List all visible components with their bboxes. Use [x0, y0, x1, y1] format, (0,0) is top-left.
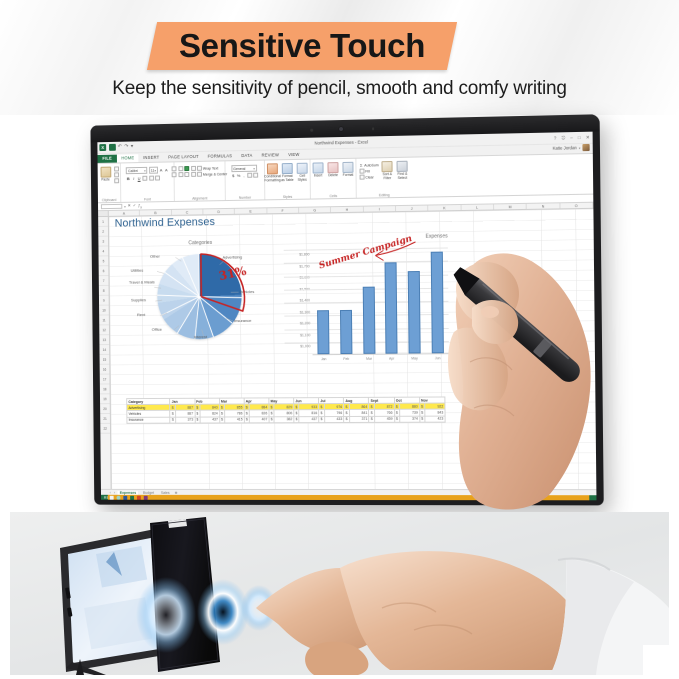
align-center-icon[interactable] [178, 172, 183, 177]
group-label-editing: Editing [357, 192, 412, 197]
tablet-device: ↶ ↷ ▾ Northwind Expenses - Excel ? ⎋ – □… [90, 114, 603, 505]
row-header-20[interactable]: 20 [100, 404, 110, 414]
paste-label: Paste [101, 178, 109, 182]
pie-chart-title: Categories [125, 239, 277, 247]
merge-center-icon [197, 172, 202, 177]
first-sheet-icon[interactable]: ‹ [110, 490, 111, 494]
edge-icon[interactable] [117, 495, 121, 499]
x-label-apr: Apr [389, 357, 394, 361]
decrease-indent-icon[interactable] [191, 172, 196, 177]
y-tick-1000: $1,000 [285, 341, 311, 353]
touch-ripple-core [197, 579, 249, 645]
excel-window: ↶ ↷ ▾ Northwind Expenses - Excel ? ⎋ – □… [97, 132, 596, 501]
bar-may [408, 271, 421, 354]
row-header-10[interactable]: 10 [99, 306, 109, 316]
column-header-f[interactable]: F [267, 208, 299, 214]
ribbon-group-number: General ▾ $ % , [225, 161, 265, 201]
row-header-9[interactable]: 9 [99, 296, 109, 306]
tab-review[interactable]: REVIEW [257, 151, 284, 160]
bar-chart-title: Expenses [426, 233, 448, 239]
row-header-5[interactable]: 5 [99, 256, 109, 266]
row-header-17[interactable]: 17 [100, 375, 110, 385]
format-cells-button[interactable]: Format [341, 162, 354, 178]
fill-color-icon[interactable] [149, 176, 154, 181]
wrap-text-button[interactable]: Wrap Text [197, 165, 218, 170]
decrease-decimal-icon[interactable] [253, 173, 258, 178]
bar-mar [362, 287, 375, 354]
name-box[interactable] [101, 204, 122, 210]
cell-value[interactable]: 433 [324, 416, 344, 422]
format-as-table-icon [282, 163, 293, 174]
help-icon[interactable]: ? [554, 135, 557, 141]
format-painter-icon[interactable] [114, 179, 119, 184]
new-sheet-icon[interactable]: ⊕ [174, 490, 177, 494]
enter-icon[interactable]: ✓ [133, 203, 136, 210]
x-label-jan: Jan [321, 357, 326, 361]
windows-start-icon[interactable] [110, 495, 114, 499]
find-select-icon [397, 161, 408, 172]
clear-button[interactable]: Clear [359, 175, 373, 180]
cell-value[interactable]: 407 [249, 416, 269, 422]
x-label-feb: Feb [343, 357, 349, 361]
insert-icon [313, 162, 324, 173]
delete-icon [327, 162, 338, 173]
hero-subtitle: Keep the sensitivity of pencil, smooth a… [0, 78, 679, 100]
font-name-select[interactable]: Calibri ▾ [126, 167, 147, 174]
paste-icon [100, 167, 111, 178]
sheet-tab-expenses[interactable]: Expenses [118, 490, 138, 494]
format-icon [342, 162, 353, 173]
x-label-jun: Jun [435, 356, 441, 360]
clear-icon [359, 175, 364, 180]
increase-font-size-icon[interactable]: A [159, 168, 163, 173]
row-header-2[interactable]: 2 [98, 227, 108, 237]
panel-corner-cutout [643, 645, 669, 675]
align-left-icon[interactable] [172, 172, 177, 177]
bar-chart[interactable]: Expenses $1,800 $1,700 $1,600 $1,500 $1,… [284, 233, 454, 385]
format-as-table-button[interactable]: Format as Table [281, 163, 294, 182]
number-format-select[interactable]: General ▾ [231, 165, 257, 172]
y-tick-1800: $1,800 [284, 249, 310, 261]
user-account[interactable]: Katie Jordan ▾ [553, 144, 590, 152]
function-icon[interactable]: ƒx [138, 203, 142, 210]
tab-file[interactable]: FILE [98, 154, 117, 162]
bar-chart-x-axis: Jan Feb Mar Apr May Jun [313, 356, 449, 361]
bold-button[interactable]: B [126, 176, 130, 181]
powerpoint-icon[interactable] [137, 495, 141, 499]
column-header-e[interactable]: E [235, 208, 267, 214]
italic-button[interactable]: I [132, 176, 136, 181]
group-label-styles: Styles [265, 194, 310, 199]
align-top-icon[interactable] [172, 166, 177, 171]
cell-value[interactable]: 415 [225, 416, 245, 422]
row-header-18[interactable]: 18 [100, 384, 110, 394]
column-header-c[interactable]: C [172, 209, 204, 214]
cell-value[interactable]: 459 [374, 416, 394, 422]
autosum-icon: Σ [359, 163, 363, 168]
row-header-11[interactable]: 11 [99, 315, 109, 325]
bar-annotation-arrow [353, 238, 424, 275]
maximize-icon[interactable]: □ [578, 135, 581, 141]
comma-format-icon[interactable]: , [242, 173, 246, 178]
underline-button[interactable]: U [137, 176, 141, 181]
row-header-4[interactable]: 4 [98, 246, 108, 256]
window-controls[interactable]: ? ⎋ – □ ✕ [554, 135, 590, 142]
ribbon-group-alignment: Wrap Text Merge & Center [174, 161, 225, 201]
pie-label-rent: Rent [137, 312, 145, 317]
column-header-k[interactable]: K [428, 205, 461, 211]
sort-filter-icon [382, 161, 393, 172]
group-label-number: Number [226, 195, 265, 200]
ribbon-group-cells: Insert Delete Format Cells [311, 159, 357, 199]
font-color-icon[interactable] [155, 176, 160, 181]
chevron-down-icon[interactable]: ▾ [579, 146, 581, 150]
row-header-13[interactable]: 13 [99, 335, 109, 345]
group-label-cells: Cells [311, 193, 356, 198]
minimize-icon[interactable]: – [570, 135, 573, 141]
column-header-a[interactable]: A [109, 210, 140, 215]
row-header-12[interactable]: 12 [99, 325, 109, 335]
borders-icon[interactable] [143, 176, 148, 181]
align-right-icon[interactable] [184, 172, 189, 177]
cell-value[interactable]: 437 [200, 417, 220, 423]
ribbon-group-styles: Conditional Formatting Format as Table C… [265, 160, 311, 200]
spreadsheet-grid[interactable]: A B C D E F G H I J K L M N O [98, 203, 596, 489]
table-row[interactable]: Insurance $ 373 $ 437 $ 415 $ 407 [127, 416, 445, 423]
cut-icon[interactable] [114, 166, 119, 171]
row-header-7[interactable]: 7 [99, 276, 109, 286]
banner-title: Sensitive Touch [152, 22, 452, 70]
percent-format-icon[interactable]: % [237, 173, 241, 178]
tab-view[interactable]: VIEW [284, 151, 305, 160]
pie-label-supplies: Supplies [131, 297, 146, 302]
group-label-clipboard: Clipboard [98, 197, 120, 201]
column-header-g[interactable]: G [299, 207, 331, 213]
y-tick-1500: $1,500 [284, 284, 310, 296]
cell-value[interactable]: 437 [299, 416, 319, 422]
sheet-tab-budget[interactable]: Budget [141, 490, 156, 494]
pie-chart[interactable]: Categories [125, 239, 279, 384]
group-label-alignment: Alignment [175, 196, 225, 201]
sheet-tab-sales[interactable]: Sales [159, 490, 172, 494]
column-header-j[interactable]: J [396, 206, 429, 212]
chevron-down-icon: ▾ [253, 166, 255, 170]
fill-icon [359, 169, 364, 174]
touch-demo-illustration [10, 512, 669, 675]
decrease-font-size-icon[interactable]: A [164, 167, 168, 172]
expenses-table[interactable]: Category Jan Feb Mar Apr May Jun Jul Aug [126, 396, 445, 423]
cell-styles-button[interactable]: Cell Styles [296, 163, 309, 182]
cell-category[interactable]: Insurance [127, 417, 170, 423]
user-name: Katie Jordan [553, 146, 577, 152]
row-header-15[interactable]: 15 [100, 355, 110, 365]
column-header-i[interactable]: I [364, 206, 396, 212]
align-bottom-icon[interactable] [184, 166, 189, 171]
column-header-d[interactable]: D [203, 209, 235, 214]
bar-apr [385, 263, 398, 354]
chevron-down-icon: ▾ [154, 168, 156, 172]
pie-label-utilities: Utilities [131, 268, 144, 273]
delete-cells-button[interactable]: Delete [326, 162, 339, 178]
tab-data[interactable]: DATA [237, 152, 257, 161]
cell-value[interactable]: 371 [349, 416, 369, 422]
camera-icon [339, 127, 343, 131]
pie-label-travel-meals: Travel & Meals [129, 280, 152, 285]
row-header-6[interactable]: 6 [99, 266, 109, 276]
y-tick-1400: $1,400 [284, 295, 310, 307]
sensor-left-icon [311, 129, 314, 132]
bar-chart-y-axis: $1,800 $1,700 $1,600 $1,500 $1,400 $1,30… [284, 249, 311, 352]
ribbon-options-icon[interactable]: ⎋ [561, 135, 565, 141]
chevron-down-icon[interactable]: ▾ [124, 204, 126, 208]
y-tick-1300: $1,300 [284, 307, 310, 319]
row-header-19[interactable]: 19 [100, 394, 110, 404]
x-label-mar: Mar [366, 357, 372, 361]
sensor-right-icon [372, 127, 375, 130]
find-select-button[interactable]: Find & Select [396, 161, 409, 180]
bar-feb [340, 310, 352, 354]
cell-styles-icon [297, 163, 308, 174]
paste-button[interactable]: Paste [99, 167, 112, 183]
row-header-14[interactable]: 14 [99, 345, 109, 355]
conditional-formatting-icon [267, 163, 278, 174]
insert-cells-button[interactable]: Insert [312, 162, 325, 178]
column-header-l[interactable]: L [461, 204, 494, 210]
ribbon-group-font: Calibri ▾ 11 ▾ A A [121, 162, 175, 202]
row-header-21[interactable]: 21 [100, 414, 110, 424]
os-taskbar[interactable] [108, 495, 589, 500]
bar-jun [430, 252, 443, 353]
cell-value[interactable]: 382 [274, 416, 294, 422]
tablet-screen: ↶ ↷ ▾ Northwind Expenses - Excel ? ⎋ – □… [97, 132, 596, 501]
row-header-22[interactable]: 22 [100, 424, 110, 434]
prev-sheet-icon[interactable]: › [114, 490, 115, 494]
hero-header: Sensitive Touch Keep the sensitivity of … [0, 0, 679, 115]
cell-value[interactable]: 374 [400, 416, 420, 422]
y-tick-1100: $1,100 [284, 330, 310, 342]
y-tick-1600: $1,600 [284, 272, 310, 284]
column-header-h[interactable]: H [331, 207, 363, 213]
column-header-m[interactable]: M [494, 204, 527, 210]
group-label-font: Font [121, 197, 174, 202]
currency-format-icon[interactable]: $ [231, 173, 235, 178]
sheet-heading: Northwind Expenses [115, 216, 215, 229]
select-all-corner[interactable] [98, 211, 109, 216]
font-size-select[interactable]: 11 ▾ [149, 167, 158, 174]
merge-center-button[interactable]: Merge & Center [197, 171, 227, 177]
ribbon-group-clipboard: Paste Clipboard [98, 163, 122, 202]
autosum-button[interactable]: Σ AutoSum [359, 162, 378, 167]
cancel-icon[interactable]: ✕ [128, 203, 131, 210]
fill-button[interactable]: Fill [359, 169, 370, 174]
cell-value[interactable]: 373 [175, 417, 194, 423]
conditional-formatting-button[interactable]: Conditional Formatting [266, 163, 279, 182]
column-header-o[interactable]: O [560, 203, 593, 209]
ribbon-group-editing: Σ AutoSum Fill Clear [356, 158, 412, 198]
column-header-b[interactable]: B [140, 210, 172, 215]
copy-icon[interactable] [114, 173, 119, 178]
bar-jan [317, 310, 329, 354]
product-marketing-page: Sensitive Touch Keep the sensitivity of … [0, 0, 679, 679]
tab-home[interactable]: HOME [117, 154, 139, 163]
row-header-3[interactable]: 3 [98, 237, 108, 247]
word-icon[interactable] [123, 495, 127, 499]
increase-decimal-icon[interactable] [247, 173, 252, 178]
onenote-icon[interactable] [144, 495, 148, 499]
cell-value[interactable]: 423 [425, 416, 445, 422]
row-header-16[interactable]: 16 [100, 365, 110, 375]
chevron-down-icon: ▾ [144, 168, 146, 172]
excel-icon[interactable] [130, 495, 134, 499]
x-label-may: May [411, 356, 417, 360]
column-header-n[interactable]: N [527, 203, 560, 209]
tab-insert[interactable]: INSERT [139, 153, 164, 162]
avatar[interactable] [582, 144, 589, 151]
row-header-8[interactable]: 8 [99, 286, 109, 296]
wrap-text-icon [197, 166, 202, 171]
cell-area[interactable]: Northwind Expenses Categories [109, 209, 597, 489]
orientation-icon[interactable] [191, 166, 196, 171]
tab-formulas[interactable]: FORMULAS [203, 152, 237, 161]
align-middle-icon[interactable] [178, 166, 183, 171]
sort-filter-button[interactable]: Sort & Filter [381, 161, 394, 180]
close-icon[interactable]: ✕ [586, 135, 590, 141]
tab-page-layout[interactable]: PAGE LAYOUT [164, 153, 204, 162]
row-header-1[interactable]: 1 [98, 217, 108, 227]
touch-demo-panel [10, 512, 669, 675]
touch-ripple-glow [136, 577, 196, 653]
